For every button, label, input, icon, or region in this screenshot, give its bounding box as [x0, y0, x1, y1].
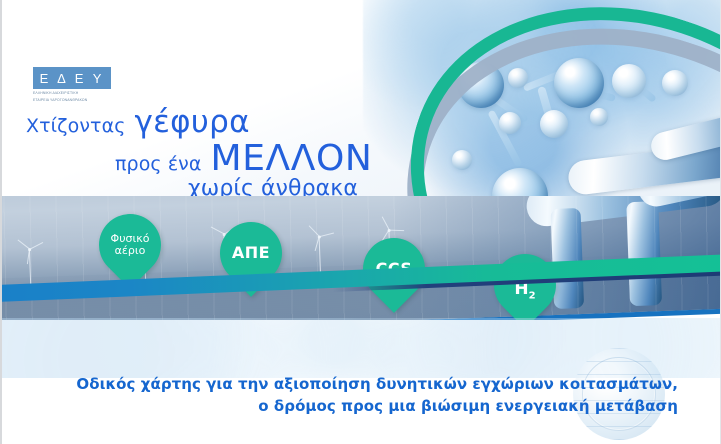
logo-subtitle-line1: ΕΛΛΗΝΙΚΗ ΔΙΑΧΕΙΡΙΣΤΙΚΗ [33, 91, 111, 96]
tagline-block: Οδικός χάρτης για την αξιοποίηση δυνητικ… [2, 374, 702, 418]
logo-subtitle-line2: ΕΤΑΙΡΕΙΑ ΥΔΡΟΓΟΝΑΝΘΡΑΚΩΝ [33, 98, 111, 103]
headline-block: Χτίζοντας γέφυρα προς ένα ΜΕΛΛΟΝ χωρίς ά… [2, 104, 402, 201]
hero-top-area: Ε Δ Ε Υ ΕΛΛΗΝΙΚΗ ΔΙΑΧΕΙΡΙΣΤΙΚΗ ΕΤΑΙΡΕΙΑ … [2, 0, 721, 205]
logo-acronym-box: Ε Δ Ε Υ [33, 67, 111, 89]
pin-natural-gas-line2: αέριο [115, 245, 146, 257]
headline-word-pros-ena: προς ένα [115, 153, 202, 175]
tagline-line-2: ο δρόμος προς μια βιώσιμη ενεργειακή μετ… [2, 396, 678, 418]
pin-natural-gas[interactable]: Φυσικό αέριο [86, 201, 174, 289]
headline-word-gefyra: γέφυρα [134, 104, 249, 140]
pin-res-label: ΑΠΕ [232, 244, 270, 262]
headline-line-1: Χτίζοντας γέφυρα [2, 104, 402, 140]
tagline-line-1: Οδικός χάρτης για την αξιοποίηση δυνητικ… [2, 374, 678, 396]
pin-natural-gas-text: Φυσικό αέριο [99, 214, 161, 276]
logo-acronym: Ε Δ Ε Υ [40, 72, 105, 85]
headline-word-xtizontas: Χτίζοντας [26, 115, 125, 137]
headline-line-2: προς ένα ΜΕΛΛΟΝ [2, 138, 402, 179]
pin-hydrogen-subscript: 2 [529, 290, 536, 301]
headline-word-mellon: ΜΕΛΛΟΝ [211, 138, 373, 179]
edey-logo: Ε Δ Ε Υ ΕΛΛΗΝΙΚΗ ΔΙΑΧΕΙΡΙΣΤΙΚΗ ΕΤΑΙΡΕΙΑ … [33, 67, 111, 103]
poster-canvas: Ε Δ Ε Υ ΕΛΛΗΝΙΚΗ ΔΙΑΧΕΙΡΙΣΤΙΚΗ ΕΤΑΙΡΕΙΑ … [0, 0, 721, 444]
